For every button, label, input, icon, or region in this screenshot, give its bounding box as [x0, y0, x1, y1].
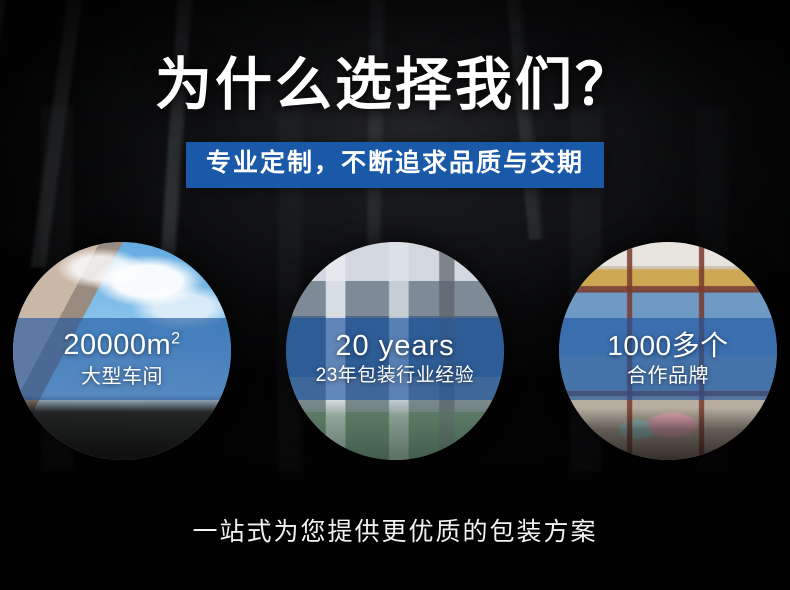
feature-main-value: 20000m — [63, 329, 171, 361]
feature-main-value: 20 years — [335, 330, 454, 362]
feature-sub-label: 大型车间 — [81, 366, 163, 388]
feature-circles-row: 20000m2 大型车间 20 years 23年包装行业经验 1000多个 合… — [0, 242, 790, 464]
feature-superscript: 2 — [171, 330, 181, 348]
footer-tagline: 一站式为您提供更优质的包装方案 — [0, 512, 790, 548]
feature-labels: 1000多个 合作品牌 — [559, 318, 777, 400]
feature-circle-partner-brands: 1000多个 合作品牌 — [559, 242, 777, 460]
feature-labels: 20 years 23年包装行业经验 — [286, 318, 504, 400]
page-title: 为什么选择我们？ — [0, 54, 790, 118]
feature-circle-workshop-area: 20000m2 大型车间 — [13, 242, 231, 460]
promo-banner: 为什么选择我们？ 专业定制，不断追求品质与交期 20000m2 大型车间 20 … — [0, 0, 790, 590]
feature-labels: 20000m2 大型车间 — [13, 318, 231, 400]
feature-main-value: 1000多个 — [607, 330, 728, 361]
feature-circle-years-experience: 20 years 23年包装行业经验 — [286, 242, 504, 460]
feature-main-label: 20 years — [335, 331, 454, 361]
feature-sub-label: 合作品牌 — [627, 365, 709, 387]
subtitle-bar: 专业定制，不断追求品质与交期 — [186, 142, 604, 188]
feature-main-label: 1000多个 — [607, 331, 728, 360]
subtitle-bar-container: 专业定制，不断追求品质与交期 — [0, 142, 790, 188]
feature-sub-label: 23年包装行业经验 — [316, 366, 475, 387]
feature-main-label: 20000m2 — [63, 330, 180, 360]
